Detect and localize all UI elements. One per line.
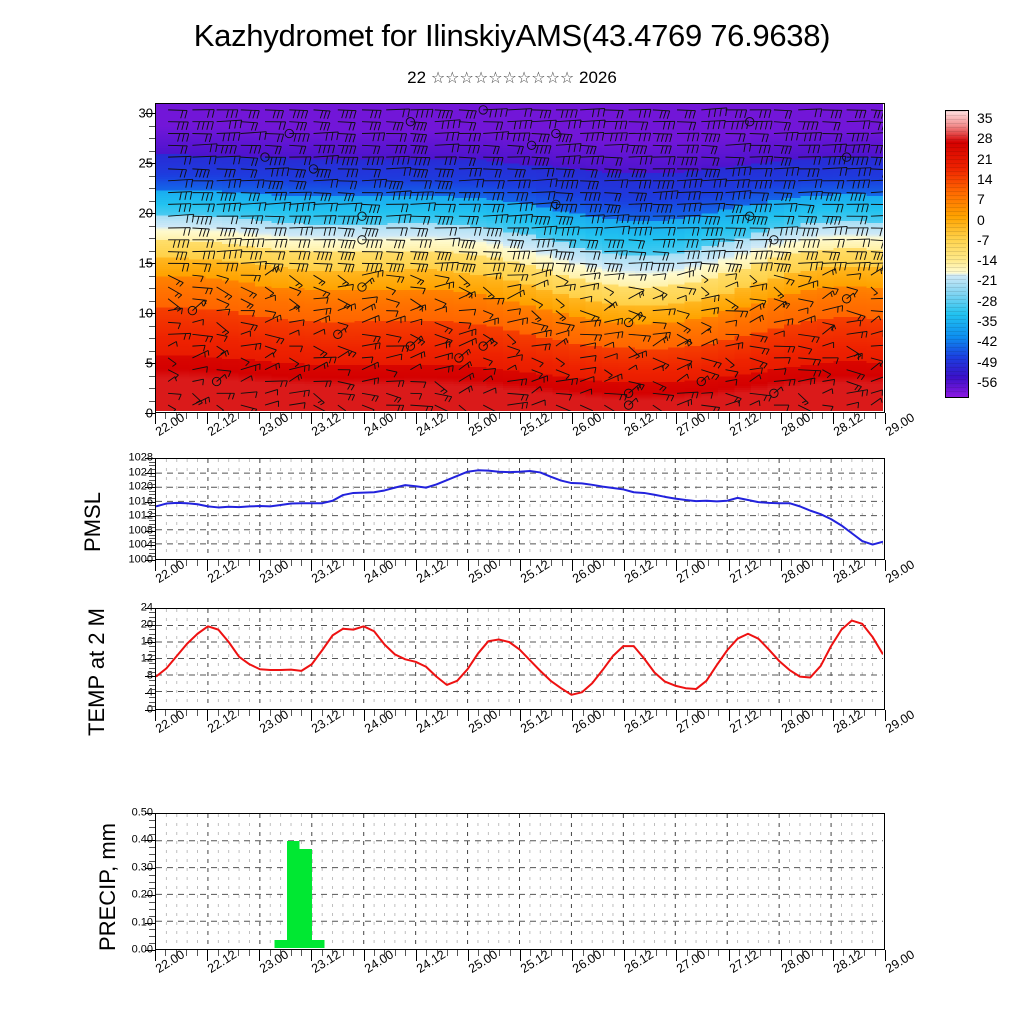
pmsl-tick-label: 27.00 <box>674 557 708 585</box>
cross-tick-minor <box>854 413 855 419</box>
cross-tick-minor <box>291 413 292 419</box>
y-tick-major <box>145 363 155 364</box>
temp-tick-minor <box>395 710 396 716</box>
y-tick-minor <box>149 651 155 652</box>
precip-tick-minor <box>812 950 813 956</box>
y-tick-minor <box>149 936 155 937</box>
y-tick-minor <box>149 201 155 202</box>
cross-tick-minor <box>635 413 636 419</box>
colorbar[interactable] <box>945 110 969 398</box>
precip-tick-minor <box>697 950 698 956</box>
precip-tick-minor <box>228 950 229 956</box>
precip-tick-minor <box>478 950 479 956</box>
precip-tick-minor <box>645 950 646 956</box>
y-tick-label: 16 <box>89 637 153 648</box>
cross-tick-minor <box>530 413 531 419</box>
cross-tick-minor <box>165 413 166 419</box>
colorbar-tick-label: -21 <box>977 272 997 288</box>
y-tick-major <box>145 693 155 694</box>
temp-tick-minor <box>510 710 511 716</box>
pmsl-tick-major <box>468 560 469 571</box>
cross-tick-minor <box>353 413 354 419</box>
precip-tick-minor <box>384 950 385 956</box>
cross-tick-minor <box>687 413 688 419</box>
y-tick-label: 20 <box>89 207 153 220</box>
pmsl-tick-minor <box>843 560 844 566</box>
y-tick-minor <box>149 542 155 543</box>
precip-tick-minor <box>218 950 219 956</box>
cross-tick-minor <box>510 413 511 419</box>
cross-tick-minor <box>875 413 876 419</box>
temp-tick-minor <box>228 710 229 716</box>
y-tick-major <box>145 413 155 414</box>
y-tick-minor <box>149 226 155 227</box>
y-tick-minor <box>149 888 155 889</box>
y-tick-minor <box>149 638 155 639</box>
precip-tick-major <box>624 950 625 961</box>
y-tick-minor <box>149 861 155 862</box>
temp-tick-minor <box>405 710 406 716</box>
y-tick-label: 15 <box>89 257 153 270</box>
cross-tick-label: 25.00 <box>466 410 500 438</box>
pmsl-series <box>156 459 883 558</box>
y-tick-major <box>145 502 155 503</box>
cross-tick-minor <box>270 413 271 419</box>
precip-tick-major <box>155 950 156 961</box>
precip-panel[interactable] <box>155 813 885 950</box>
temp-tick-minor <box>322 710 323 716</box>
cross-tick-minor <box>322 413 323 419</box>
precip-tick-major <box>364 950 365 961</box>
precip-tick-major <box>572 950 573 961</box>
temp-tick-label: 22.12 <box>205 707 239 735</box>
temp-tick-minor <box>426 710 427 716</box>
temp-tick-minor <box>457 710 458 716</box>
cross-tick-minor <box>562 413 563 419</box>
y-tick-label: 1020 <box>89 482 153 493</box>
cross-tick-minor <box>197 413 198 419</box>
precip-tick-minor <box>593 950 594 956</box>
y-tick-label: 4 <box>89 688 153 699</box>
pmsl-tick-minor <box>656 560 657 566</box>
temp-tick-minor <box>541 710 542 716</box>
precip-tick-label: 22.12 <box>205 947 239 975</box>
pmsl-tick-minor <box>197 560 198 566</box>
y-tick-minor <box>149 469 155 470</box>
pmsl-tick-minor <box>218 560 219 566</box>
temp-tick-major <box>364 710 365 721</box>
pmsl-tick-minor <box>510 560 511 566</box>
pmsl-plot-area <box>156 459 884 559</box>
y-tick-minor <box>149 326 155 327</box>
subtitle-year: 2026 <box>579 68 617 87</box>
y-tick-major <box>145 473 155 474</box>
temp-tick-label: 26.12 <box>622 707 656 735</box>
y-tick-minor <box>149 875 155 876</box>
y-tick-minor <box>149 820 155 821</box>
y-tick-minor <box>149 827 155 828</box>
y-tick-minor <box>149 465 155 466</box>
temp-tick-major <box>207 710 208 721</box>
y-tick-label: 1024 <box>89 467 153 478</box>
y-tick-minor <box>149 151 155 152</box>
pmsl-tick-major <box>885 560 886 571</box>
precip-tick-minor <box>499 950 500 956</box>
cross-tick-minor <box>583 413 584 419</box>
precip-tick-minor <box>332 950 333 956</box>
y-tick-major <box>145 923 155 924</box>
precip-tick-minor <box>749 950 750 956</box>
precip-tick-major <box>781 950 782 961</box>
y-tick-label: 1008 <box>89 525 153 536</box>
pmsl-tick-label: 26.12 <box>622 557 656 585</box>
temp-tick-minor <box>197 710 198 716</box>
precip-tick-major <box>885 950 886 961</box>
precip-tick-minor <box>739 950 740 956</box>
cross-tick-minor <box>249 413 250 419</box>
pmsl-tick-minor <box>541 560 542 566</box>
precip-tick-label: 24.00 <box>362 947 396 975</box>
pmsl-tick-minor <box>353 560 354 566</box>
pmsl-tick-minor <box>426 560 427 566</box>
temp-tick-minor <box>822 710 823 716</box>
subtitle-date: 22 ☆☆☆☆☆☆☆☆☆☆ 2026 <box>0 68 1024 88</box>
cross-section-plot-area <box>156 104 884 412</box>
cross-tick-major <box>416 413 417 424</box>
pmsl-tick-minor <box>291 560 292 566</box>
y-tick-minor <box>149 351 155 352</box>
colorbar-tick-label: -7 <box>977 232 989 248</box>
y-tick-minor <box>149 513 155 514</box>
y-tick-minor <box>149 401 155 402</box>
cross-tick-minor <box>864 413 865 419</box>
pmsl-panel[interactable] <box>155 458 885 560</box>
precip-tick-minor <box>822 950 823 956</box>
cross-tick-minor <box>791 413 792 419</box>
colorbar-tick-label: 35 <box>977 110 993 126</box>
precip-tick-label: 27.00 <box>674 947 708 975</box>
precip-tick-minor <box>635 950 636 956</box>
cross-tick-minor <box>593 413 594 419</box>
temp-tick-minor <box>499 710 500 716</box>
cross-tick-minor <box>280 413 281 419</box>
precip-tick-minor <box>186 950 187 956</box>
y-tick-major <box>145 487 155 488</box>
pmsl-tick-label: 23.00 <box>257 557 291 585</box>
pmsl-tick-minor <box>875 560 876 566</box>
cross-tick-minor <box>603 413 604 419</box>
temp-tick-label: 28.00 <box>779 707 813 735</box>
colorbar-tick-label: 21 <box>977 151 993 167</box>
pmsl-tick-minor <box>437 560 438 566</box>
cross-tick-minor <box>405 413 406 419</box>
pmsl-tick-minor <box>238 560 239 566</box>
pmsl-tick-label: 24.12 <box>414 557 448 585</box>
temp-tick-minor <box>864 710 865 716</box>
cross-tick-minor <box>426 413 427 419</box>
y-tick-minor <box>149 376 155 377</box>
y-tick-minor <box>149 634 155 635</box>
cross-tick-label: 22.12 <box>205 410 239 438</box>
temp-tick-minor <box>749 710 750 716</box>
temp-tick-minor <box>593 710 594 716</box>
cross-tick-label: 29.00 <box>883 410 917 438</box>
cross-tick-major <box>311 413 312 424</box>
precip-tick-minor <box>489 950 490 956</box>
temp-tick-label: 24.00 <box>362 707 396 735</box>
pmsl-tick-minor <box>374 560 375 566</box>
pmsl-tick-label: 28.12 <box>831 557 865 585</box>
cross-section-field <box>156 104 883 411</box>
precip-tick-minor <box>457 950 458 956</box>
precip-tick-minor <box>437 950 438 956</box>
cross-tick-minor <box>708 413 709 419</box>
cross-tick-minor <box>656 413 657 419</box>
cross-tick-major <box>520 413 521 424</box>
y-tick-minor <box>149 509 155 510</box>
pmsl-tick-label: 28.00 <box>779 557 813 585</box>
pmsl-tick-minor <box>228 560 229 566</box>
precip-tick-minor <box>197 950 198 956</box>
pmsl-tick-minor <box>489 560 490 566</box>
temp-tick-minor <box>718 710 719 716</box>
y-tick-label: 0.50 <box>89 808 153 819</box>
precip-tick-minor <box>291 950 292 956</box>
y-tick-major <box>145 608 155 609</box>
pmsl-tick-minor <box>405 560 406 566</box>
temp-tick-minor <box>770 710 771 716</box>
y-tick-minor <box>149 702 155 703</box>
cross-tick-major <box>468 413 469 424</box>
pmsl-tick-major <box>781 560 782 571</box>
y-tick-minor <box>149 668 155 669</box>
colorbar-tick-label: -49 <box>977 354 997 370</box>
precip-tick-minor <box>301 950 302 956</box>
y-tick-label: 0 <box>89 705 153 716</box>
colorbar-tick-label: -28 <box>977 293 997 309</box>
pmsl-tick-minor <box>384 560 385 566</box>
precip-tick-label: 26.00 <box>570 947 604 975</box>
cross-tick-minor <box>228 413 229 419</box>
precip-tick-minor <box>353 950 354 956</box>
cross-tick-minor <box>478 413 479 419</box>
y-tick-minor <box>149 553 155 554</box>
y-tick-label: 1004 <box>89 540 153 551</box>
pmsl-tick-minor <box>249 560 250 566</box>
y-tick-label: 5 <box>89 357 153 370</box>
y-tick-major <box>145 840 155 841</box>
temp-tick-minor <box>603 710 604 716</box>
y-tick-minor <box>149 126 155 127</box>
pmsl-tick-major <box>676 560 677 571</box>
pmsl-tick-major <box>729 560 730 571</box>
y-tick-major <box>145 560 155 561</box>
cross-tick-minor <box>697 413 698 419</box>
y-tick-label: 20 <box>89 620 153 631</box>
y-tick-minor <box>149 617 155 618</box>
temp-tick-minor <box>739 710 740 716</box>
temp-tick-major <box>781 710 782 721</box>
temp-tick-major <box>676 710 677 721</box>
pmsl-tick-major <box>624 560 625 571</box>
temp-tick-minor <box>301 710 302 716</box>
pmsl-tick-minor <box>280 560 281 566</box>
page-title: Kazhydromet for IlinskiyAMS(43.4769 76.9… <box>0 18 1024 54</box>
precip-tick-minor <box>875 950 876 956</box>
temp-tick-minor <box>374 710 375 716</box>
precip-tick-minor <box>176 950 177 956</box>
pmsl-tick-minor <box>708 560 709 566</box>
cross-tick-minor <box>437 413 438 419</box>
precip-tick-major <box>468 950 469 961</box>
y-tick-major <box>145 545 155 546</box>
cross-tick-label: 23.00 <box>257 410 291 438</box>
y-tick-minor <box>149 909 155 910</box>
y-tick-minor <box>149 238 155 239</box>
temp-tick-minor <box>843 710 844 716</box>
cross-tick-minor <box>645 413 646 419</box>
y-tick-major <box>145 710 155 711</box>
precip-tick-minor <box>270 950 271 956</box>
y-tick-minor <box>149 902 155 903</box>
pmsl-tick-minor <box>176 560 177 566</box>
cross-tick-minor <box>176 413 177 419</box>
precip-tick-label: 23.00 <box>257 947 291 975</box>
temp-tick-minor <box>697 710 698 716</box>
pmsl-tick-minor <box>854 560 855 566</box>
y-tick-minor <box>149 882 155 883</box>
pmsl-tick-major <box>520 560 521 571</box>
precip-tick-label: 24.12 <box>414 947 448 975</box>
precip-tick-minor <box>447 950 448 956</box>
pmsl-tick-label: 26.00 <box>570 557 604 585</box>
y-tick-label: 0.40 <box>89 835 153 846</box>
temp-tick-major <box>259 710 260 721</box>
y-tick-label: 1016 <box>89 496 153 507</box>
y-tick-minor <box>149 480 155 481</box>
y-tick-major <box>145 531 155 532</box>
pmsl-tick-minor <box>718 560 719 566</box>
precip-tick-minor <box>405 950 406 956</box>
cross-tick-minor <box>186 413 187 419</box>
precip-tick-minor <box>165 950 166 956</box>
temp-tick-label: 26.00 <box>570 707 604 735</box>
precip-tick-label: 25.00 <box>466 947 500 975</box>
temp-tick-minor <box>708 710 709 716</box>
cross-tick-label: 27.00 <box>674 410 708 438</box>
y-tick-minor <box>149 929 155 930</box>
y-tick-minor <box>149 943 155 944</box>
precip-tick-major <box>259 950 260 961</box>
pmsl-tick-minor <box>165 560 166 566</box>
y-tick-major <box>145 659 155 660</box>
temp-tick-major <box>572 710 573 721</box>
precip-tick-label: 29.00 <box>883 947 917 975</box>
precip-tick-minor <box>802 950 803 956</box>
temp-tick-major <box>833 710 834 721</box>
y-tick-label: 0.10 <box>89 917 153 928</box>
temp-tick-minor <box>489 710 490 716</box>
pmsl-tick-minor <box>583 560 584 566</box>
pmsl-tick-minor <box>478 560 479 566</box>
precip-tick-minor <box>562 950 563 956</box>
temp-tick-major <box>729 710 730 721</box>
cross-section-panel[interactable] <box>155 103 885 413</box>
temp-tick-label: 25.12 <box>518 707 552 735</box>
subtitle-month-glyphs: ☆☆☆☆☆☆☆☆☆☆ <box>431 70 574 87</box>
precip-tick-label: 25.12 <box>518 947 552 975</box>
cross-tick-label: 26.00 <box>570 410 604 438</box>
cross-tick-label: 27.12 <box>727 410 761 438</box>
cross-tick-minor <box>812 413 813 419</box>
precip-tick-minor <box>551 950 552 956</box>
precip-tick-minor <box>343 950 344 956</box>
cross-tick-minor <box>384 413 385 419</box>
pmsl-tick-label: 27.12 <box>727 557 761 585</box>
colorbar-tick-label: -42 <box>977 333 997 349</box>
precip-tick-minor <box>708 950 709 956</box>
cross-tick-minor <box>301 413 302 419</box>
cross-tick-major <box>259 413 260 424</box>
cross-tick-minor <box>489 413 490 419</box>
cross-tick-minor <box>770 413 771 419</box>
precip-tick-minor <box>395 950 396 956</box>
precip-tick-minor <box>687 950 688 956</box>
temp-tick-minor <box>332 710 333 716</box>
temp-tick-major <box>311 710 312 721</box>
y-tick-minor <box>149 847 155 848</box>
pmsl-tick-minor <box>530 560 531 566</box>
y-tick-label: 0.00 <box>89 945 153 956</box>
y-tick-minor <box>149 276 155 277</box>
cross-tick-minor <box>760 413 761 419</box>
temp-tick-minor <box>353 710 354 716</box>
y-tick-minor <box>149 288 155 289</box>
y-tick-major <box>145 625 155 626</box>
temp-tick-label: 24.12 <box>414 707 448 735</box>
precip-tick-minor <box>791 950 792 956</box>
temp-tick-minor <box>562 710 563 716</box>
y-tick-major <box>145 113 155 114</box>
pmsl-tick-minor <box>791 560 792 566</box>
precip-tick-minor <box>322 950 323 956</box>
y-tick-minor <box>149 338 155 339</box>
precip-tick-minor <box>760 950 761 956</box>
y-tick-minor <box>149 621 155 622</box>
y-tick-minor <box>149 301 155 302</box>
y-tick-minor <box>149 685 155 686</box>
cross-tick-minor <box>395 413 396 419</box>
y-tick-minor <box>149 484 155 485</box>
pmsl-tick-minor <box>301 560 302 566</box>
y-tick-minor <box>149 138 155 139</box>
precip-tick-major <box>676 950 677 961</box>
cross-tick-minor <box>843 413 844 419</box>
precip-tick-minor <box>614 950 615 956</box>
temp-tick-label: 27.12 <box>727 707 761 735</box>
pmsl-tick-minor <box>770 560 771 566</box>
y-tick-minor <box>149 251 155 252</box>
temp-panel[interactable] <box>155 608 885 710</box>
temp-tick-label: 27.00 <box>674 707 708 735</box>
y-tick-label: 1012 <box>89 511 153 522</box>
pmsl-tick-label: 23.12 <box>309 557 343 585</box>
cross-tick-major <box>207 413 208 424</box>
temp-tick-major <box>155 710 156 721</box>
y-tick-label: 8 <box>89 671 153 682</box>
precip-tick-minor <box>530 950 531 956</box>
precip-tick-minor <box>583 950 584 956</box>
